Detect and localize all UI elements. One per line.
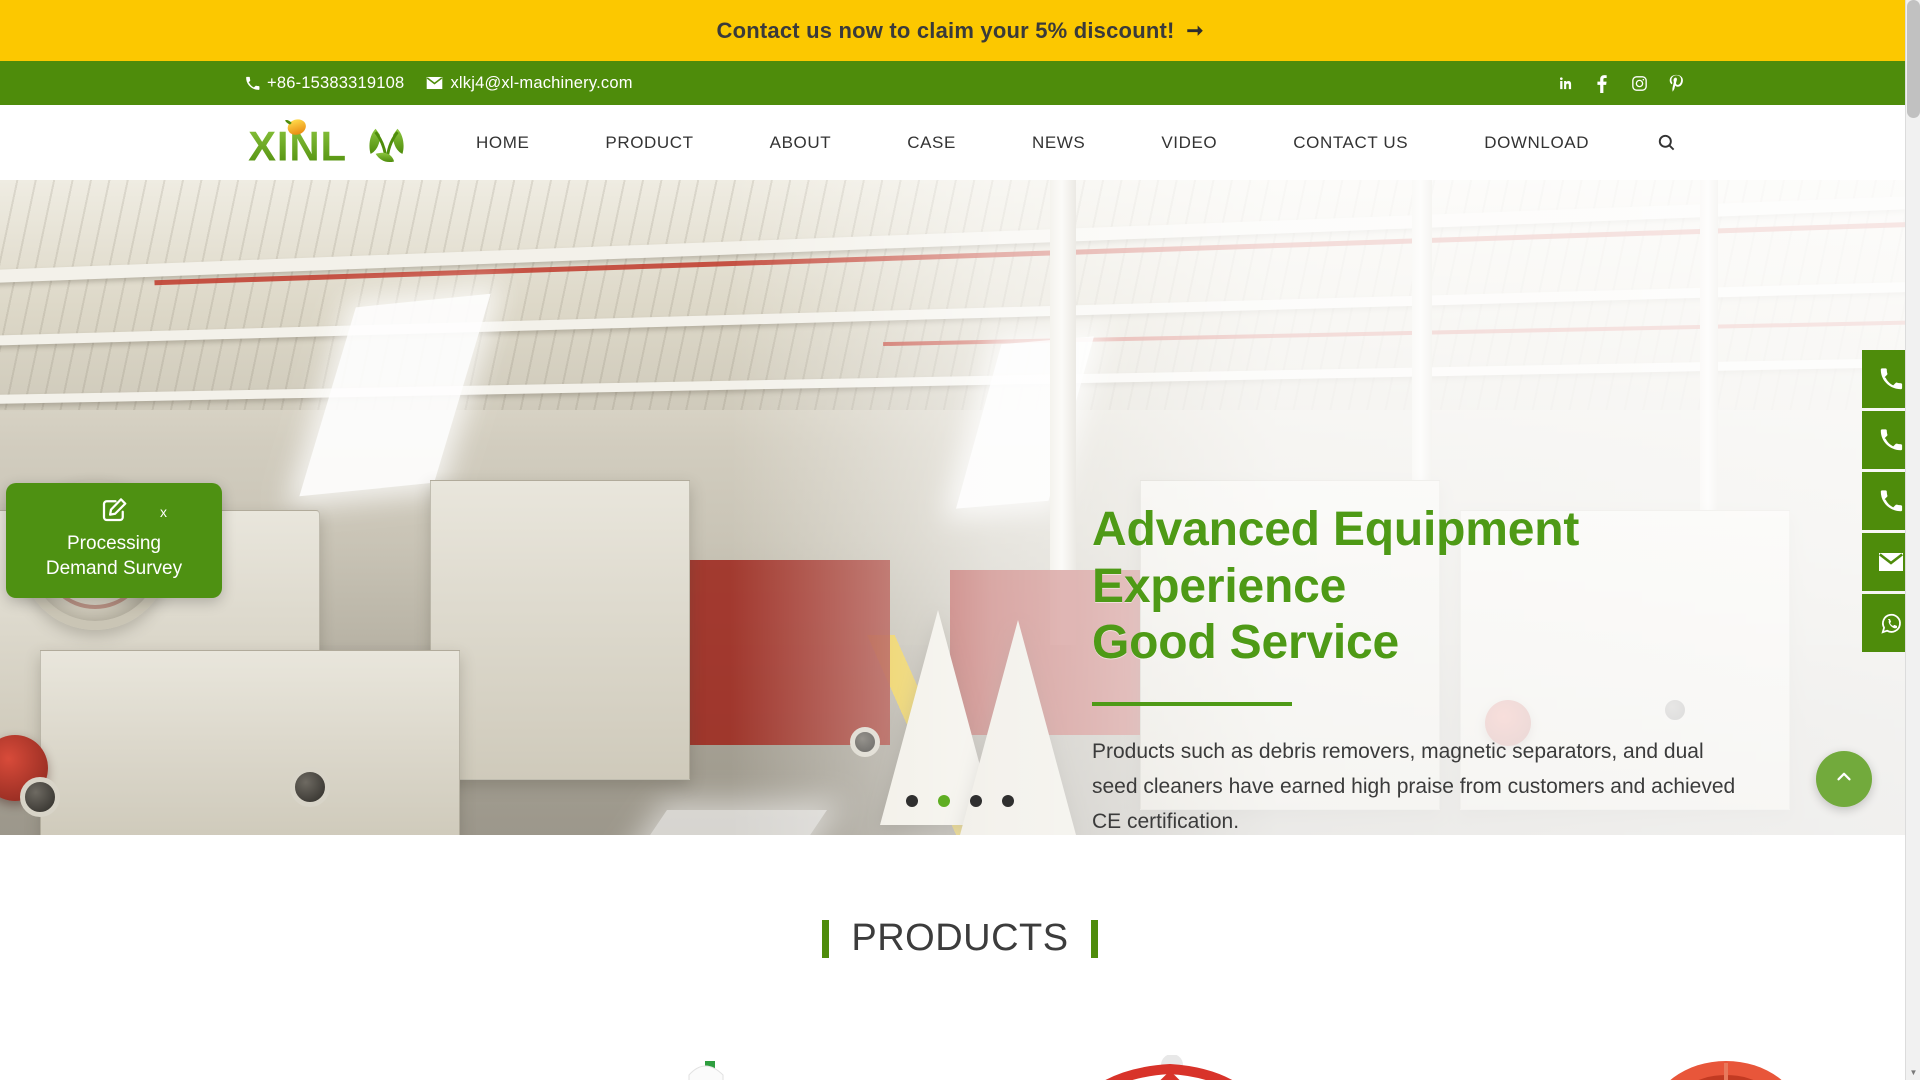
promo-banner-text: Contact us now to claim your 5% discount…: [717, 18, 1175, 44]
nav-item-contact-us[interactable]: CONTACT US: [1255, 133, 1446, 153]
nav-item-news[interactable]: NEWS: [994, 133, 1123, 153]
hero-title: Advanced Equipment Experience Good Servi…: [1092, 502, 1752, 672]
phone-icon: [245, 76, 260, 91]
page-scrollbar[interactable]: ▲ ▼: [1905, 0, 1920, 1080]
search-icon[interactable]: [1653, 130, 1679, 156]
pinterest-icon[interactable]: [1667, 73, 1685, 93]
phone-number: +86-15383319108: [267, 74, 404, 93]
social-links: [1556, 73, 1685, 93]
page-root: Contact us now to claim your 5% discount…: [0, 0, 1920, 1080]
hero-slider: Advanced Equipment Experience Good Servi…: [0, 180, 1920, 835]
nav-item-home[interactable]: HOME: [476, 133, 567, 153]
edit-pencil-icon: [99, 495, 129, 525]
nav-item-about[interactable]: ABOUT: [732, 133, 870, 153]
products-title-text: PRODUCTS: [851, 917, 1068, 960]
linkedin-icon[interactable]: [1556, 73, 1574, 93]
product-image: [1530, 1055, 1830, 1080]
survey-label-line1: Processing: [6, 531, 222, 556]
instagram-icon[interactable]: [1630, 73, 1648, 93]
hero-dot-3[interactable]: [970, 795, 982, 807]
product-image: [1050, 1055, 1350, 1080]
scroll-to-top-button[interactable]: [1816, 751, 1872, 807]
contact-bar: +86-15383319108 xlkj4@xl-machinery.com: [0, 61, 1920, 105]
product-card[interactable]: [960, 1025, 1440, 1080]
survey-label-line2: Demand Survey: [6, 556, 222, 581]
nav-item-download[interactable]: DOWNLOAD: [1446, 133, 1627, 153]
site-header: XINL HOME PRODUCT ABOUT CASE NEWS VIDEO …: [0, 105, 1920, 180]
email-address: xlkj4@xl-machinery.com: [450, 74, 632, 93]
title-accent-bar-left: [822, 920, 829, 958]
hero-dot-1[interactable]: [906, 795, 918, 807]
phone-link[interactable]: +86-15383319108: [245, 74, 404, 93]
envelope-icon: [426, 76, 443, 90]
hero-slider-dots: [906, 795, 1014, 807]
nav-item-video[interactable]: VIDEO: [1123, 133, 1255, 153]
arrow-right-icon: ➞: [1187, 21, 1204, 41]
facebook-icon[interactable]: [1593, 73, 1611, 93]
products-section-title: PRODUCTS: [0, 917, 1920, 960]
title-accent-bar-right: [1091, 920, 1098, 958]
product-card[interactable]: [480, 1025, 960, 1080]
email-link[interactable]: xlkj4@xl-machinery.com: [426, 74, 632, 93]
survey-close-button[interactable]: x: [160, 505, 167, 519]
product-card[interactable]: [1440, 1025, 1920, 1080]
hero-dot-2[interactable]: [938, 795, 950, 807]
promo-banner[interactable]: Contact us now to claim your 5% discount…: [0, 0, 1920, 61]
hero-title-line1: Advanced Equipment: [1092, 502, 1752, 559]
scrollbar-thumb[interactable]: [1907, 0, 1920, 118]
scrollbar-down-arrow[interactable]: ▼: [1906, 1065, 1920, 1080]
product-card[interactable]: [0, 1025, 480, 1080]
product-card-list: [0, 1025, 1920, 1080]
hero-title-line3: Good Service: [1092, 615, 1752, 672]
product-image: [645, 1055, 795, 1080]
processing-demand-survey-popup[interactable]: x Processing Demand Survey: [6, 483, 222, 598]
products-section: PRODUCTS: [0, 835, 1920, 1080]
site-logo[interactable]: XINL: [248, 117, 416, 169]
hero-title-line2: Experience: [1092, 559, 1752, 616]
promo-banner-link[interactable]: Contact us now to claim your 5% discount…: [717, 18, 1204, 44]
survey-label: Processing Demand Survey: [6, 531, 222, 582]
hero-description: Products such as debris removers, magnet…: [1092, 734, 1752, 835]
hero-dot-4[interactable]: [1002, 795, 1014, 807]
nav-item-product[interactable]: PRODUCT: [567, 133, 731, 153]
hero-divider: [1092, 702, 1292, 706]
contact-bar-left: +86-15383319108 xlkj4@xl-machinery.com: [245, 74, 633, 93]
hero-copy: Advanced Equipment Experience Good Servi…: [1092, 502, 1752, 835]
chevron-up-icon: [1833, 766, 1855, 793]
nav-item-case[interactable]: CASE: [869, 133, 994, 153]
main-navigation: HOME PRODUCT ABOUT CASE NEWS VIDEO CONTA…: [476, 130, 1720, 156]
